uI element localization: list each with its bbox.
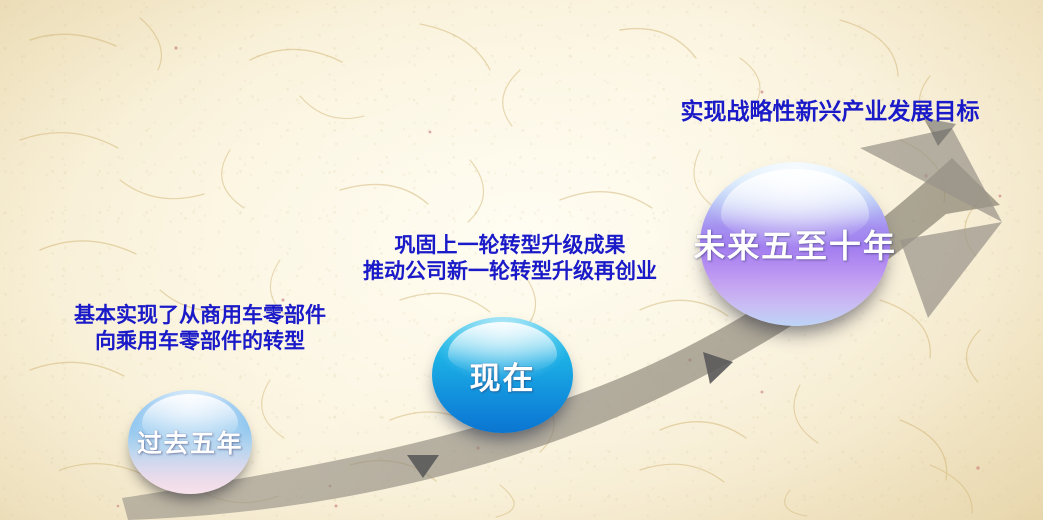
milestone-label-future: 未来五至十年 [693, 221, 897, 267]
caption-past: 基本实现了从商用车零部件 向乘用车零部件的转型 [40, 302, 360, 355]
caption-future: 实现战略性新兴产业发展目标 [620, 98, 1040, 127]
milestone-sphere-future[interactable]: 未来五至十年 [700, 162, 890, 326]
milestone-label-past: 过去五年 [137, 424, 243, 460]
caption-now: 巩固上一轮转型升级成果 推动公司新一轮转型升级再创业 [330, 232, 690, 285]
milestone-label-now: 现在 [470, 353, 536, 398]
milestone-sphere-past[interactable]: 过去五年 [128, 390, 252, 494]
slide-canvas: 基本实现了从商用车零部件 向乘用车零部件的转型 巩固上一轮转型升级成果 推动公司… [0, 0, 1043, 520]
milestone-sphere-now[interactable]: 现在 [432, 317, 573, 433]
